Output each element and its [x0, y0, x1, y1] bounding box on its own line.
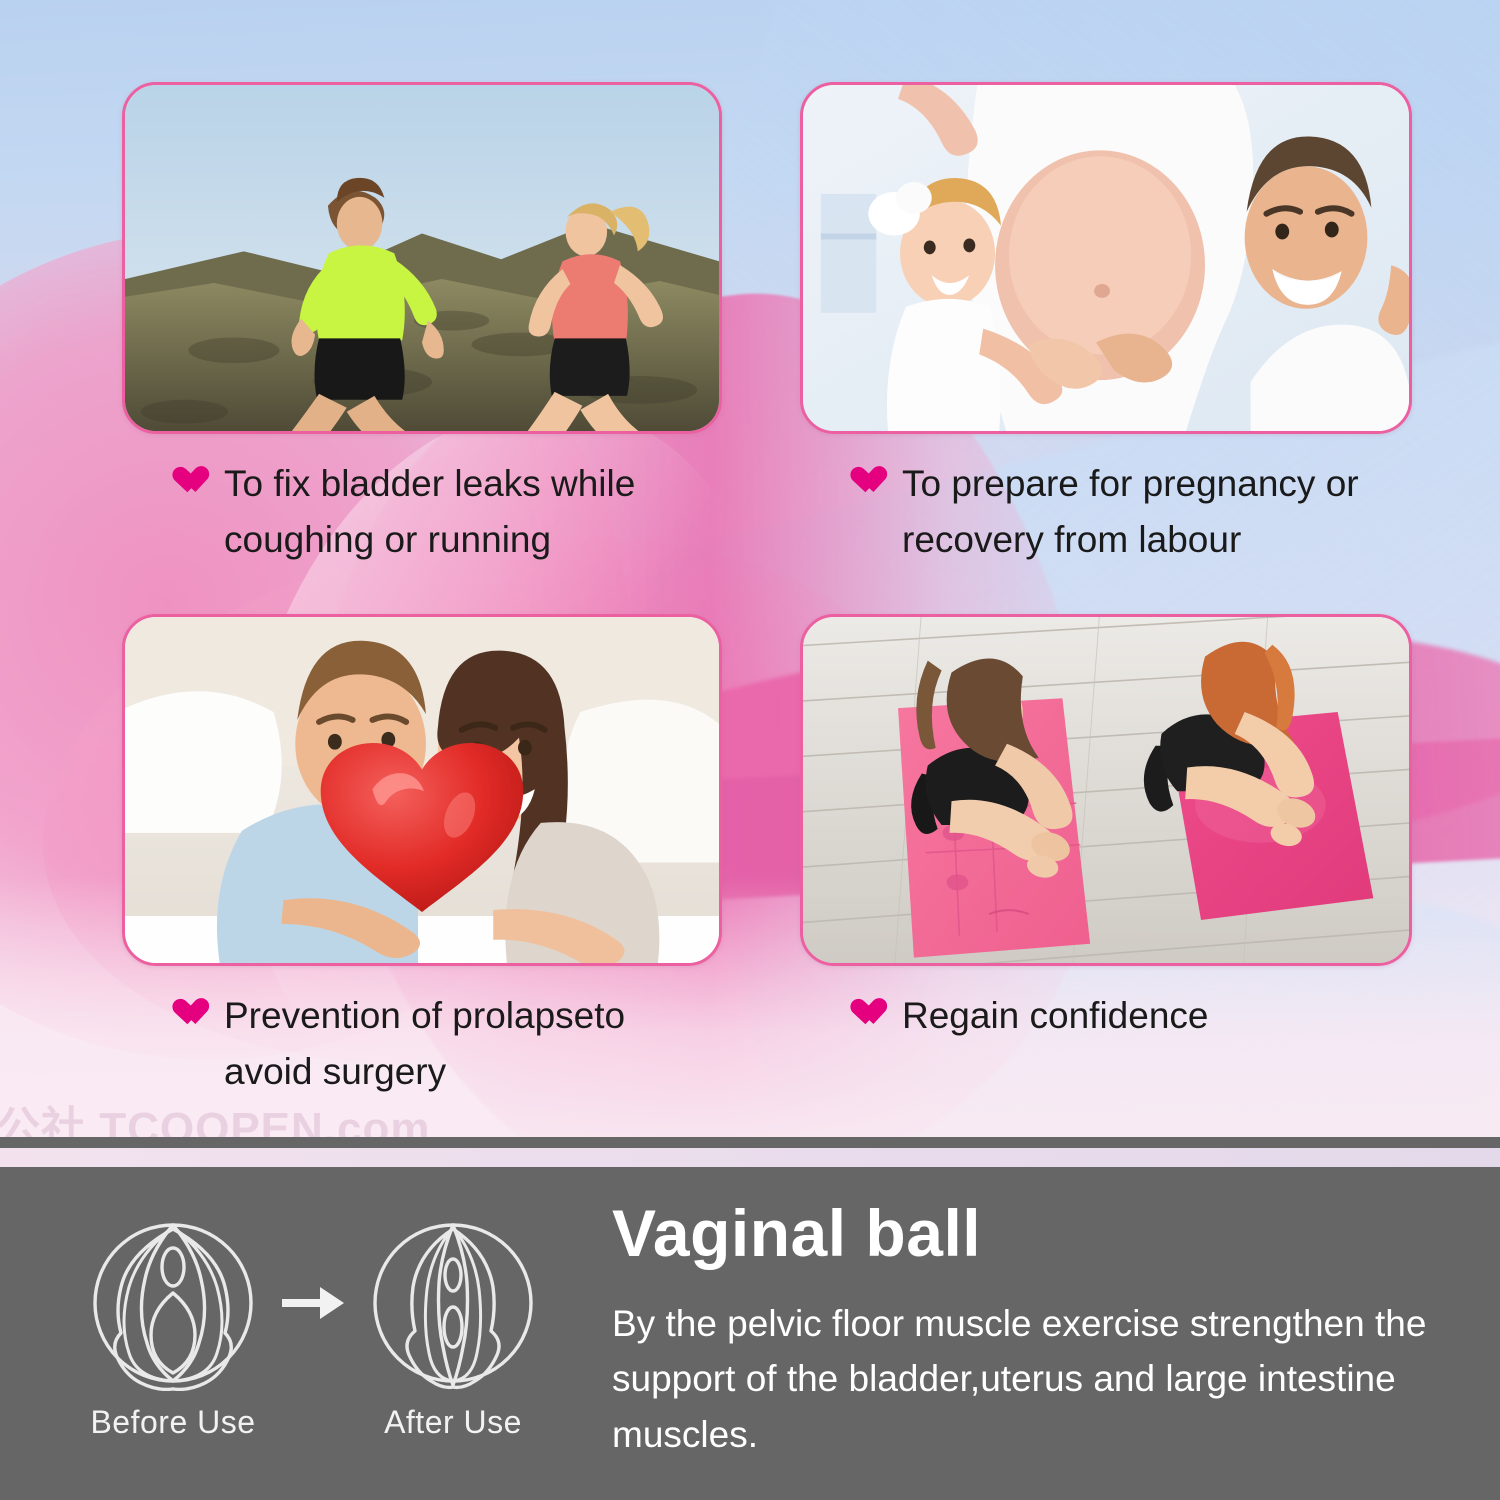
heart-icon	[858, 998, 889, 1026]
benefit-caption-text: Regain confidence	[902, 988, 1209, 1044]
runners-illustration	[125, 85, 719, 433]
benefit-caption: Regain confidence	[800, 988, 1412, 1044]
after-use-item: After Use	[358, 1215, 548, 1441]
yoga-illustration	[803, 617, 1409, 966]
benefit-card-pregnancy: To prepare for pregnancy or recovery fro…	[800, 82, 1412, 568]
benefit-caption-text: To prepare for pregnancy or recovery fro…	[902, 456, 1412, 568]
section-divider-pink	[0, 1148, 1500, 1167]
benefit-caption-text: To fix bladder leaks while coughing or r…	[224, 456, 722, 568]
page-title: Vaginal ball	[612, 1197, 1472, 1270]
benefit-card-confidence: Regain confidence	[800, 614, 1412, 1044]
benefits-grid: To fix bladder leaks while coughing or r…	[0, 0, 1500, 1137]
before-use-item: Before Use	[78, 1215, 268, 1441]
benefit-caption-text: Prevention of prolapseto avoid surgery	[224, 988, 722, 1100]
benefit-card-bladder-leaks: To fix bladder leaks while coughing or r…	[122, 82, 722, 568]
benefits-section: 公社 TCOOPEN.com	[0, 0, 1500, 1137]
after-use-label: After Use	[358, 1404, 548, 1441]
couple-illustration	[125, 617, 719, 965]
section-divider-gray	[0, 1137, 1500, 1148]
benefit-caption: To prepare for pregnancy or recovery fro…	[800, 456, 1412, 568]
heart-icon	[858, 466, 889, 494]
heart-icon	[180, 998, 211, 1026]
benefit-caption: Prevention of prolapseto avoid surgery	[122, 988, 722, 1100]
yoga-stretch-photo	[800, 614, 1412, 966]
arrow-container	[274, 1215, 352, 1391]
product-description: By the pelvic floor muscle exercise stre…	[612, 1296, 1472, 1463]
benefit-caption: To fix bladder leaks while coughing or r…	[122, 456, 722, 568]
couple-heart-balloon-photo	[122, 614, 722, 966]
pregnancy-illustration	[803, 85, 1409, 434]
anatomy-after-icon	[364, 1215, 542, 1391]
product-infographic: 公社 TCOOPEN.com	[0, 0, 1500, 1500]
pregnancy-family-photo	[800, 82, 1412, 434]
before-use-label: Before Use	[78, 1404, 268, 1441]
arrow-right-icon	[280, 1281, 346, 1325]
anatomy-before-icon	[84, 1215, 262, 1391]
runners-photo	[122, 82, 722, 434]
heart-icon	[180, 466, 211, 494]
product-copy: Vaginal ball By the pelvic floor muscle …	[612, 1197, 1472, 1462]
product-description-panel: Before Use	[0, 1167, 1500, 1500]
before-after-diagram: Before Use	[78, 1215, 548, 1465]
benefit-card-prolapse: Prevention of prolapseto avoid surgery	[122, 614, 722, 1100]
